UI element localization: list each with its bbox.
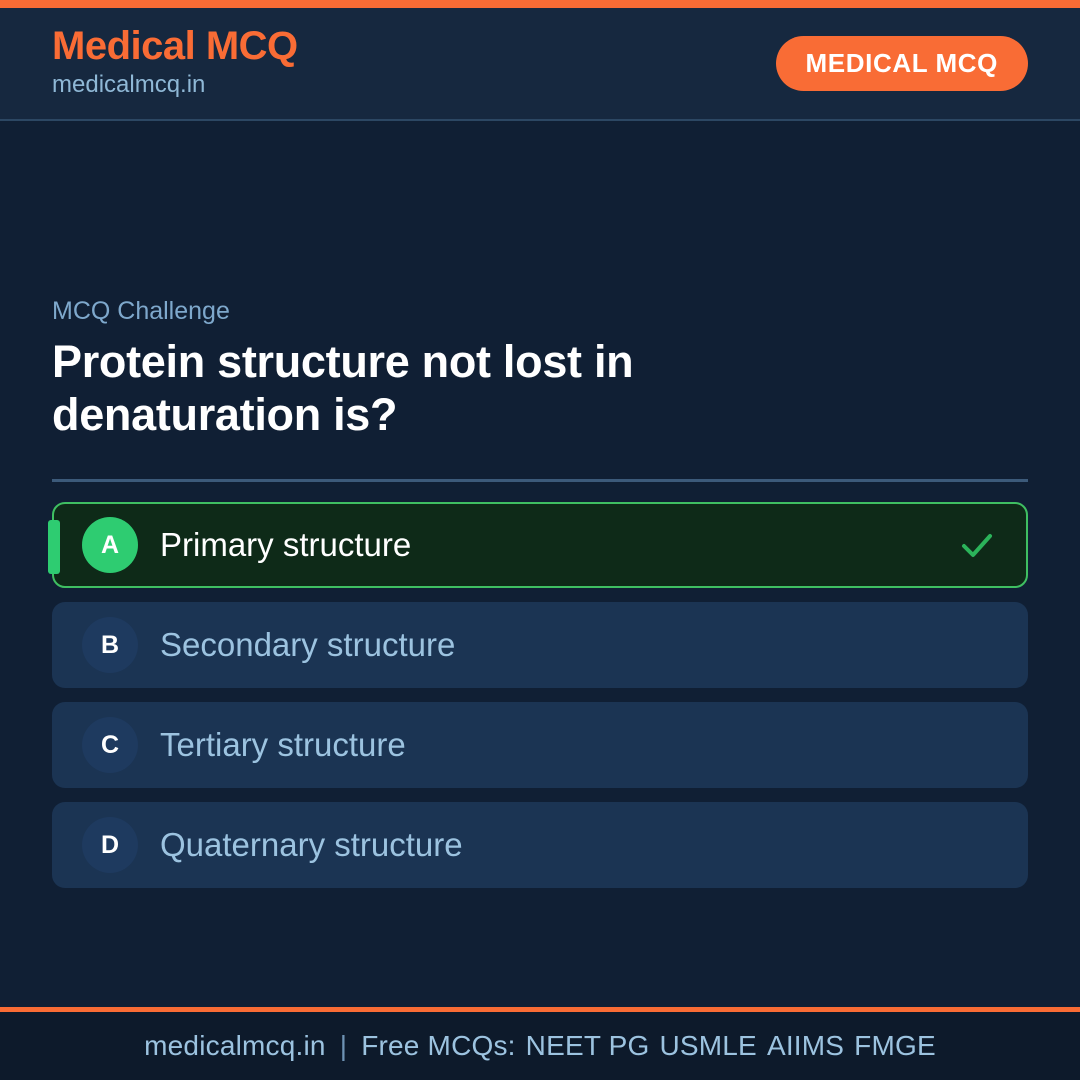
top-spacer: [52, 121, 1028, 296]
main-content: MCQ Challenge Protein structure not lost…: [0, 121, 1080, 1007]
option-c[interactable]: C Tertiary structure: [52, 702, 1028, 788]
option-letter-badge: C: [82, 717, 138, 773]
brand-subtitle: medicalmcq.in: [52, 69, 298, 101]
top-accent-bar: [0, 0, 1080, 8]
page-footer: medicalmcq.in|Free MCQs:NEET PGUSMLEAIIM…: [0, 1007, 1080, 1080]
header-badge[interactable]: MEDICAL MCQ: [776, 36, 1028, 91]
option-letter-badge: B: [82, 617, 138, 673]
option-letter-badge: D: [82, 817, 138, 873]
question-divider: [52, 479, 1028, 482]
footer-site[interactable]: medicalmcq.in: [144, 1030, 326, 1061]
brand-block: Medical MCQ medicalmcq.in: [52, 25, 298, 102]
footer-label: Free MCQs:: [361, 1030, 515, 1061]
option-label: Secondary structure: [160, 625, 1004, 665]
footer-tag-usmle[interactable]: USMLE: [649, 1030, 756, 1061]
option-d[interactable]: D Quaternary structure: [52, 802, 1028, 888]
footer-tag-fmge[interactable]: FMGE: [844, 1030, 936, 1061]
footer-tag-neetpg[interactable]: NEET PG: [516, 1030, 650, 1061]
correct-accent-bar: [48, 520, 60, 574]
option-label: Quaternary structure: [160, 825, 1004, 865]
option-letter-badge: A: [82, 517, 138, 573]
brand-title: Medical MCQ: [52, 25, 298, 68]
options-list: A Primary structure B Secondary structur…: [52, 502, 1028, 888]
footer-text: medicalmcq.in|Free MCQs:NEET PGUSMLEAIIM…: [144, 1030, 936, 1062]
option-label: Tertiary structure: [160, 725, 1004, 765]
footer-separator: |: [326, 1030, 361, 1061]
question-title: Protein structure not lost in denaturati…: [52, 336, 882, 441]
option-label: Primary structure: [160, 525, 956, 565]
option-b[interactable]: B Secondary structure: [52, 602, 1028, 688]
check-icon: [956, 524, 998, 566]
footer-tag-aiims[interactable]: AIIMS: [757, 1030, 844, 1061]
page-header: Medical MCQ medicalmcq.in MEDICAL MCQ: [0, 8, 1080, 121]
mcq-card-page: Medical MCQ medicalmcq.in MEDICAL MCQ MC…: [0, 0, 1080, 1080]
option-a[interactable]: A Primary structure: [52, 502, 1028, 588]
eyebrow-label: MCQ Challenge: [52, 296, 1028, 326]
